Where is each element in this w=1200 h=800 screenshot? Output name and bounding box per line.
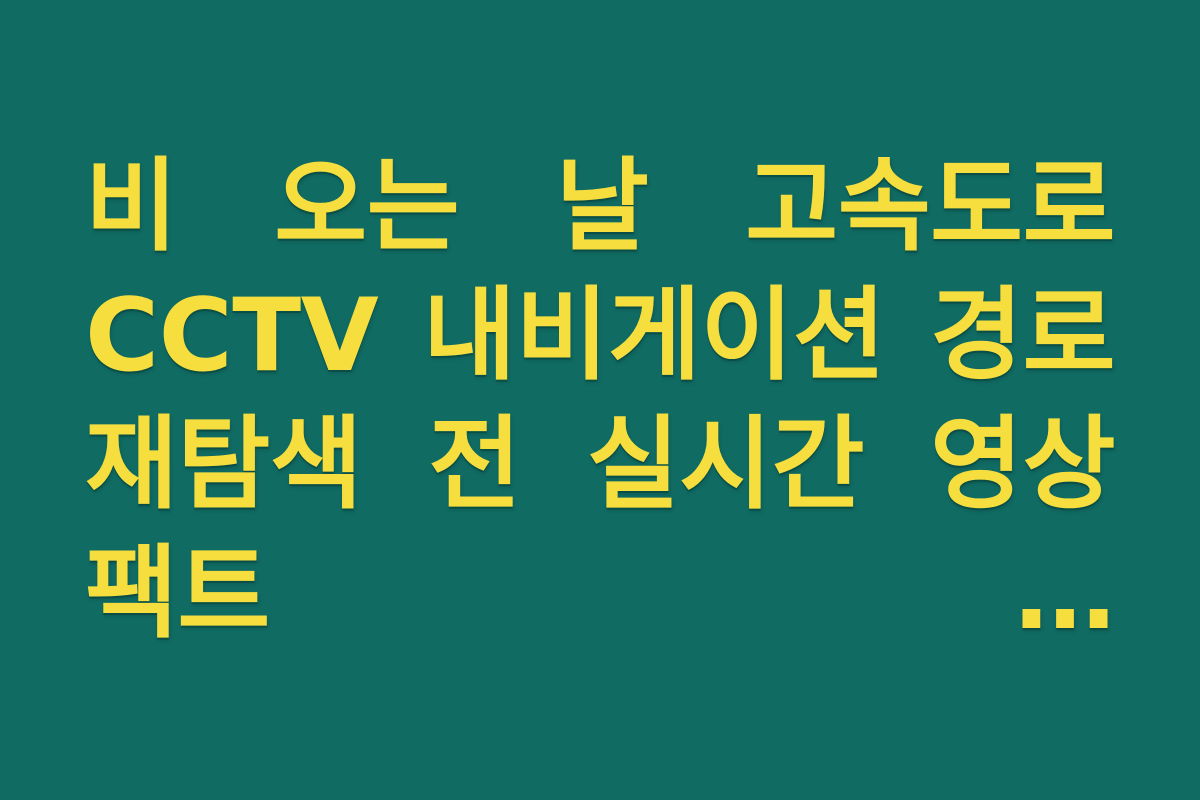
headline-block: 비 오는 날 고속도로 CCTV 내비게이션 경로 재탐색 전 실시간 영상 팩… xyxy=(85,142,1115,658)
headline-text: 비 오는 날 고속도로 CCTV 내비게이션 경로 재탐색 전 실시간 영상 팩… xyxy=(85,142,1115,658)
thumbnail-card: 비 오는 날 고속도로 CCTV 내비게이션 경로 재탐색 전 실시간 영상 팩… xyxy=(0,0,1200,800)
